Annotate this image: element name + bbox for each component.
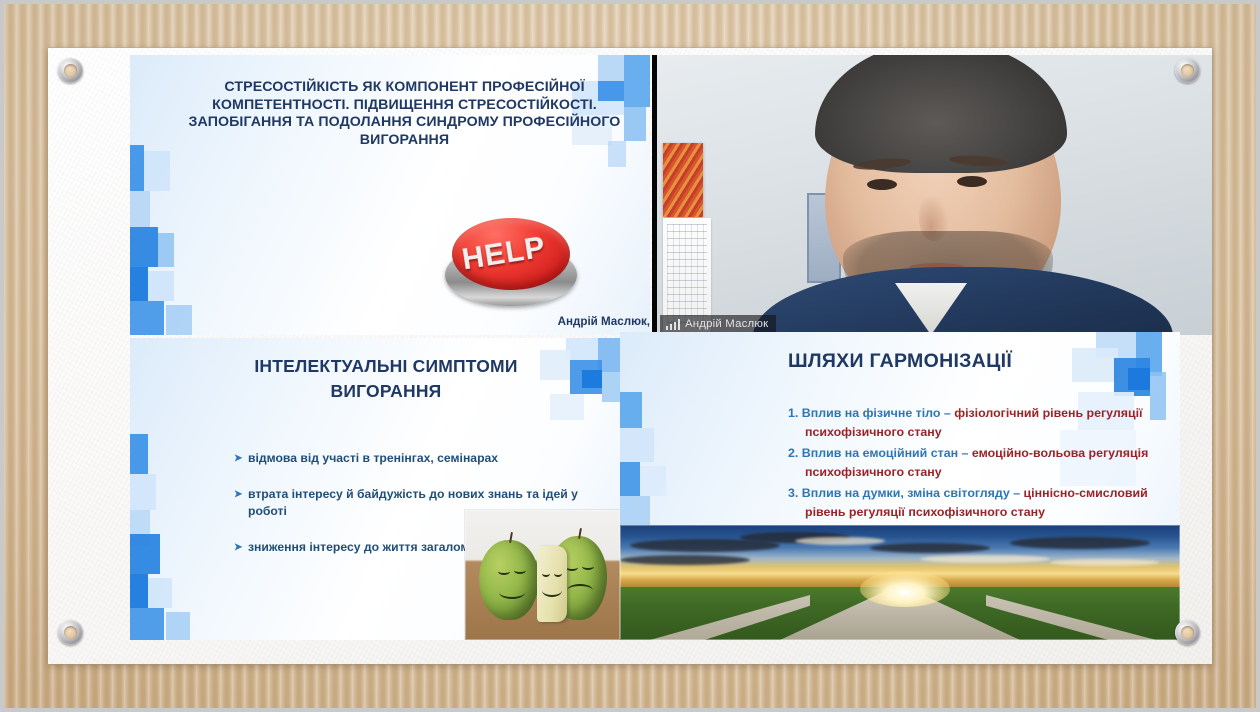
- list-item: відмова від участі в тренінгах, семінара…: [234, 450, 604, 468]
- apples-photo: [465, 510, 620, 640]
- help-button-graphic: HELP: [445, 218, 577, 306]
- grommet-bottom-right: [1175, 620, 1200, 645]
- list-item-text-blue: Вплив на емоційний стан –: [802, 446, 972, 460]
- symptoms-title: ІНТЕЛЕКТУАЛЬНІ СИМПТОМИ ВИГОРАННЯ: [186, 354, 586, 404]
- grommet-bottom-left: [58, 620, 83, 645]
- author-name: Андрій Маслюк,: [360, 312, 650, 331]
- list-item-text-blue: Вплив на думки, зміна світогляду –: [802, 486, 1024, 500]
- crossroads-sunset-photo: [620, 525, 1180, 640]
- author-credit: Андрій Маслюк, доктор психологічних наук…: [360, 312, 650, 335]
- slide-title-card[interactable]: СТРЕСОСТІЙКІСТЬ ЯК КОМПОНЕНТ ПРОФЕСІЙНОЇ…: [130, 55, 650, 335]
- harmonization-title: ШЛЯХИ ГАРМОНІЗАЦІЇ: [690, 350, 1110, 373]
- slide-symptoms-card[interactable]: ІНТЕЛЕКТУАЛЬНІ СИМПТОМИ ВИГОРАННЯ відмов…: [130, 338, 620, 640]
- presenter-hair: [815, 55, 1067, 173]
- list-item: 1. Вплив на фізичне тіло – фізіологічний…: [788, 404, 1180, 442]
- slide-title-heading: СТРЕСОСТІЙКІСТЬ ЯК КОМПОНЕНТ ПРОФЕСІЙНОЇ…: [172, 79, 637, 149]
- author-title: доктор психологічних наук, доцент: [360, 331, 650, 335]
- list-item-text-blue: Вплив на фізичне тіло –: [802, 406, 954, 420]
- participant-name-label: Андрій Маслюк: [685, 318, 768, 330]
- signal-strength-icon: [666, 319, 680, 330]
- video-feed-panel[interactable]: Андрій Маслюк: [652, 55, 1212, 335]
- list-item: 2. Вплив на емоційний стан – емоційно-во…: [788, 444, 1180, 482]
- presenter-eye-left: [867, 179, 897, 190]
- grommet-top-right: [1175, 58, 1200, 83]
- presenter-eye-right: [957, 176, 987, 187]
- smile-icon: [542, 584, 562, 597]
- wall-poster: [663, 143, 703, 217]
- mask-face-happy: [542, 570, 564, 600]
- grommet-top-left: [58, 58, 83, 83]
- eye-icon: [542, 570, 550, 577]
- list-item-number: 1.: [788, 406, 798, 420]
- paper-mask: [537, 546, 567, 622]
- symptoms-title-line1: ІНТЕЛЕКТУАЛЬНІ СИМПТОМИ: [186, 354, 586, 379]
- list-item-number: 3.: [788, 486, 798, 500]
- video-scene: [657, 55, 1212, 335]
- harmonization-list: 1. Вплив на фізичне тіло – фізіологічний…: [748, 404, 1180, 524]
- slide-harmonization-card[interactable]: ШЛЯХИ ГАРМОНІЗАЦІЇ 1. Вплив на фізичне т…: [620, 332, 1180, 640]
- list-item-number: 2.: [788, 446, 798, 460]
- sun-glow: [860, 571, 950, 607]
- list-item: 3. Вплив на думки, зміна світогляду – ці…: [788, 484, 1180, 522]
- participant-name-tag: Андрій Маслюк: [660, 315, 776, 333]
- screenshot-root: СТРЕСОСТІЙКІСТЬ ЯК КОМПОНЕНТ ПРОФЕСІЙНОЇ…: [0, 0, 1260, 712]
- eye-icon: [554, 570, 562, 577]
- symptoms-title-line2: ВИГОРАННЯ: [186, 379, 586, 404]
- video-letterbox: [652, 55, 657, 335]
